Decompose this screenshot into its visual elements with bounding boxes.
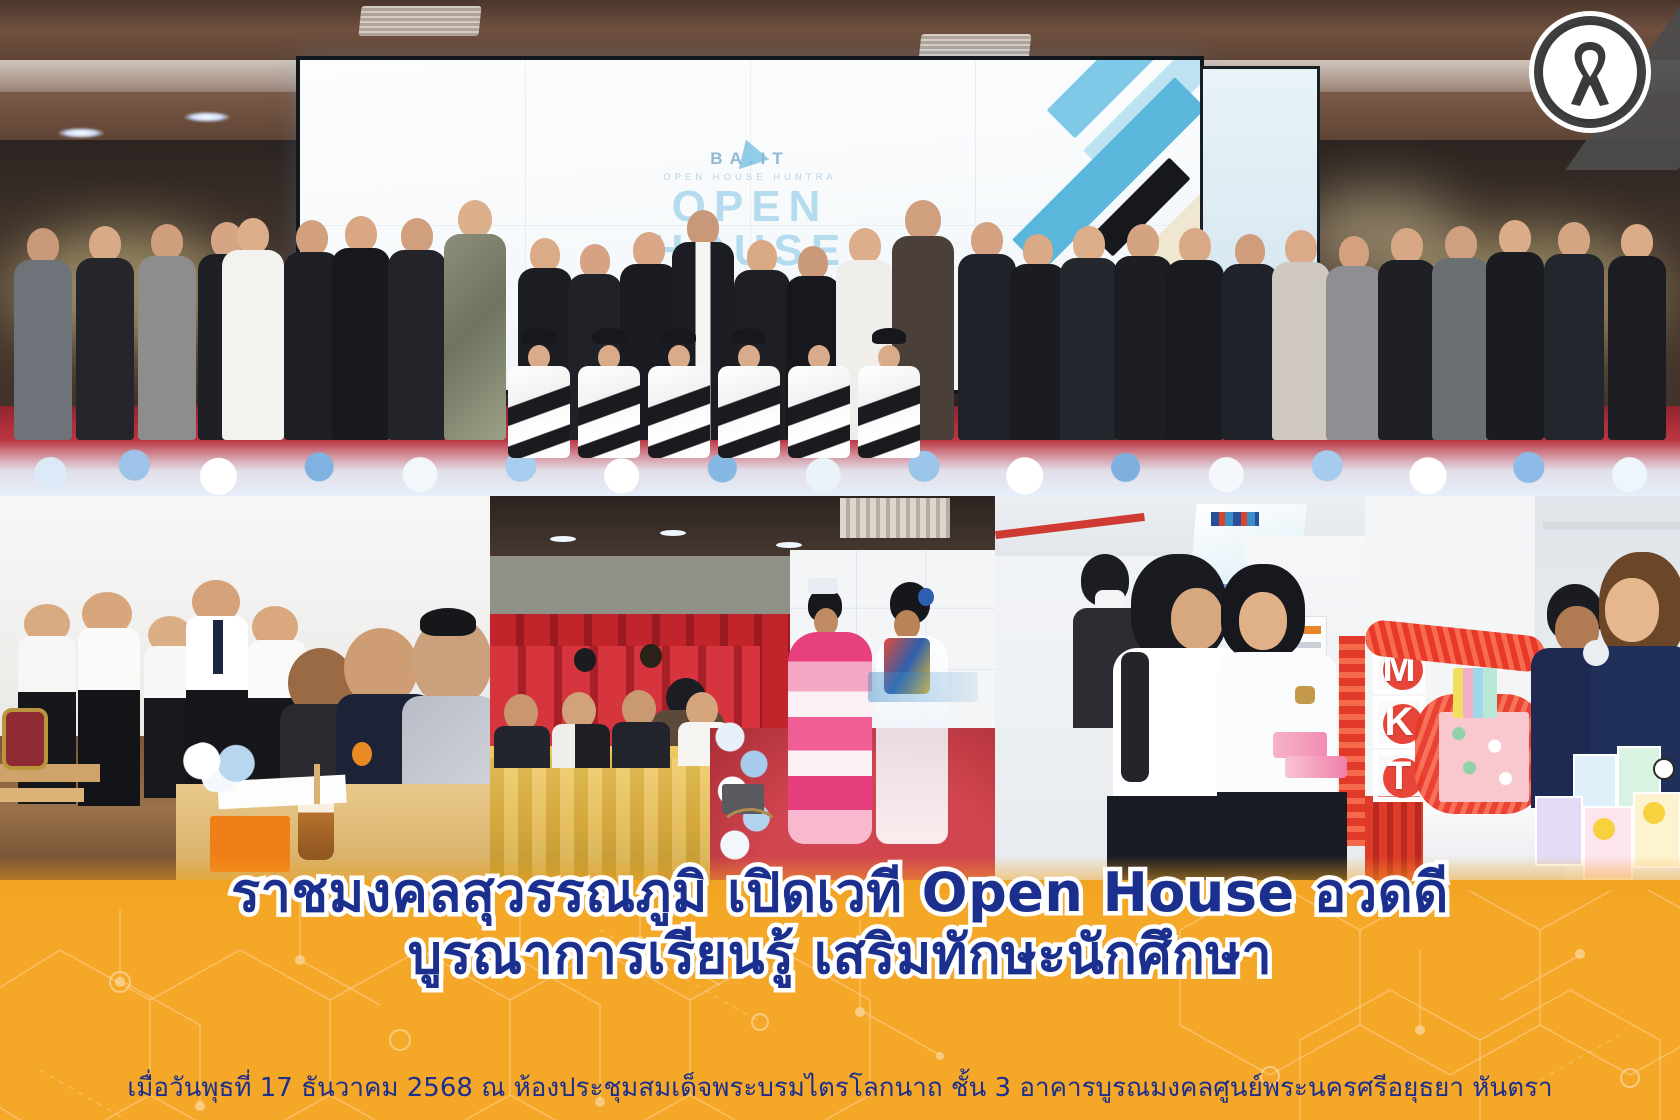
person-row-back	[1272, 230, 1330, 440]
person-row-back	[444, 200, 506, 440]
dancer	[788, 328, 850, 458]
model-crown	[808, 578, 838, 594]
person-row-back	[1486, 220, 1544, 440]
audience-member	[574, 648, 596, 672]
side-table	[0, 788, 84, 802]
person-row-back	[1378, 228, 1436, 440]
person-row-back	[1010, 234, 1066, 440]
dancer	[648, 328, 710, 458]
student-face	[1171, 588, 1223, 650]
staff-face-right	[1605, 578, 1659, 642]
person-row-back	[14, 228, 72, 440]
dancer	[508, 328, 570, 458]
ceiling-light	[776, 542, 802, 548]
dancer	[718, 328, 780, 458]
person-row-back	[1114, 224, 1172, 440]
smiley-sticker	[1643, 802, 1665, 824]
pink-product-box	[1273, 732, 1327, 758]
poster-root: BA.IT OPEN HOUSE HUNTRA OPEN HOUSE HUNTR…	[0, 0, 1680, 1120]
rmutsb-emblem	[352, 742, 372, 766]
stage-banner-text	[868, 672, 978, 702]
person-row-back	[76, 226, 134, 440]
straw	[314, 764, 320, 804]
student2-uniform	[1217, 652, 1337, 802]
ceiling-light	[660, 530, 686, 536]
photo-panel-4: M K T	[1365, 496, 1680, 880]
photo-panel-3	[995, 496, 1365, 880]
drink-cans	[1453, 668, 1497, 718]
banner-logo	[1211, 512, 1259, 526]
banner-subline: เมื่อวันพุธที่ 17 ธันวาคม 2568 ณ ห้องประ…	[0, 1067, 1680, 1108]
backpack-strap	[1121, 652, 1149, 782]
panda-sticker	[1653, 758, 1675, 780]
person-row-back	[1608, 224, 1666, 440]
banner-headline: ราชมงคลสุวรรณภูมิ เปิดเวที Open House อว…	[0, 862, 1680, 986]
ceiling-panel	[840, 498, 950, 538]
chair	[2, 708, 48, 770]
person-row-back	[1544, 222, 1604, 440]
person-row-back	[138, 224, 196, 440]
wristwatch	[1295, 686, 1315, 704]
hair-bow	[420, 608, 476, 636]
person-row-back	[222, 218, 284, 440]
audience-member	[640, 644, 662, 668]
microphone	[1583, 640, 1609, 666]
student-standing	[78, 628, 140, 696]
photo-strip: M K T	[0, 496, 1680, 880]
ceiling-strip	[1543, 522, 1680, 530]
dancer	[858, 328, 920, 458]
judge	[494, 726, 550, 768]
downlight-1	[58, 128, 104, 138]
person-row-back	[332, 216, 390, 440]
student-standing	[18, 636, 76, 698]
student-standing	[78, 690, 140, 806]
necktie	[213, 620, 223, 674]
hero-photo: BA.IT OPEN HOUSE HUNTRA OPEN HOUSE HUNTR…	[0, 0, 1680, 496]
screen-logo-mark: BA.IT	[570, 149, 930, 169]
photo-panel-2	[490, 496, 995, 880]
ceiling-light	[550, 536, 576, 542]
person-row-back	[1166, 228, 1224, 440]
ceiling-beam	[0, 0, 1680, 66]
photo-panel-1	[0, 496, 490, 880]
student2-face	[1239, 592, 1287, 650]
person-row-back	[958, 222, 1016, 440]
headline-line-1: ราชมงคลสุวรรณภูมิ เปิดเวที Open House อว…	[0, 862, 1680, 924]
model2-hairpin	[918, 588, 934, 606]
headline-line-2: บูรณาการเรียนรู้ เสริมทักษะนักศึกษา	[0, 924, 1680, 986]
judge	[552, 724, 610, 768]
flower-bouquet	[176, 740, 262, 792]
air-vent-left	[358, 6, 481, 36]
person-row-back	[1222, 234, 1278, 440]
dancer	[578, 328, 640, 458]
person-row-back	[388, 218, 446, 440]
gift-box-pattern	[1439, 712, 1529, 802]
pink-product-box	[1285, 756, 1347, 778]
model-dress-pink	[788, 632, 872, 844]
person-row-back	[1060, 226, 1118, 440]
person-row-back	[1432, 226, 1490, 440]
air-vent-right	[919, 34, 1032, 60]
downlight-2	[184, 112, 230, 122]
smiley-sticker	[1593, 818, 1615, 840]
person-row-back	[1326, 236, 1382, 440]
title-banner: ราชมงคลสุวรรณภูมิ เปิดเวที Open House อว…	[0, 856, 1680, 1120]
judge	[612, 722, 670, 768]
cable	[718, 808, 782, 858]
